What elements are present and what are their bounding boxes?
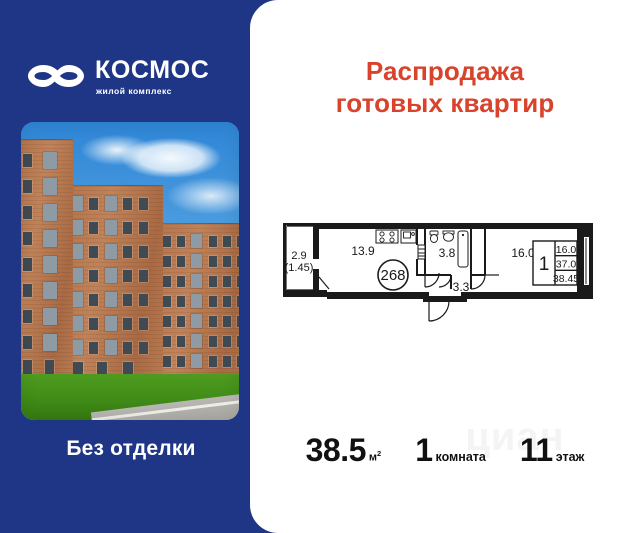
living-room-door-icon [471, 275, 499, 289]
photo-building-far [157, 223, 239, 382]
hallway-area: 3.3 [453, 280, 470, 294]
ventilation-shaft-icon [418, 245, 425, 259]
floor-plan-drawing: 2.9 (1.45) 13.9 [275, 197, 620, 347]
specs-row: 38.5 м2 1 комната 11 этаж [250, 432, 640, 469]
apartment-number: 268 [380, 267, 405, 284]
brand-name: КОСМОС [95, 58, 209, 83]
info-rooms-count: 1 [539, 254, 550, 275]
spec-rooms-unit: комната [435, 450, 485, 464]
bathroom-door-icon [439, 275, 451, 287]
spec-area-unit-sup: 2 [377, 449, 381, 458]
kitchen-living-area: 13.9 [351, 244, 375, 258]
spec-area-unit: м2 [369, 449, 381, 464]
photo-building-mid [67, 185, 163, 382]
spec-floor-unit: этаж [556, 450, 585, 464]
white-content-card: Распродажа готовых квартир циан [250, 0, 640, 533]
infinity-icon [26, 61, 86, 91]
page-title: Распродажа готовых квартир [250, 56, 640, 119]
finish-caption: Без отделки [0, 437, 262, 461]
brand-subtitle: жилой комплекс [96, 87, 209, 96]
spec-area-value: 38.5 [306, 432, 366, 469]
spec-area: 38.5 м2 [306, 432, 382, 469]
spec-rooms-value: 1 [415, 432, 432, 469]
building-photo [21, 122, 239, 420]
info-living-area: 16.0 [556, 244, 577, 256]
balcony-area-reduced: (1.45) [285, 262, 314, 274]
headline-line-1: Распродажа [366, 56, 524, 86]
left-brand-panel: КОСМОС жилой комплекс [0, 0, 262, 533]
kitchen-fixtures-icon [376, 230, 416, 243]
floor-plan: 2.9 (1.45) 13.9 [275, 197, 620, 347]
headline-line-2: готовых квартир [250, 88, 640, 120]
info-area-without-balcony: 37.0 [556, 259, 577, 271]
spec-floor-value: 11 [520, 432, 553, 469]
living-room-area: 16.0 [511, 246, 535, 260]
brand-text-block: КОСМОС жилой комплекс [95, 57, 209, 96]
entrance-door-icon [429, 301, 449, 321]
photo-building-near [21, 139, 73, 382]
info-total-area: 38.45 [553, 273, 579, 285]
apartment-info-box: 1 16.0 37.0 38.45 [533, 241, 579, 285]
spec-rooms: 1 комната [415, 432, 486, 469]
spec-area-unit-text: м [369, 452, 377, 464]
spec-floor: 11 этаж [520, 432, 585, 469]
brand-logo: КОСМОС жилой комплекс [26, 57, 209, 96]
promo-card: КОСМОС жилой комплекс [0, 0, 640, 533]
balcony-area: 2.9 [291, 250, 306, 262]
bathroom-area: 3.8 [439, 246, 456, 260]
